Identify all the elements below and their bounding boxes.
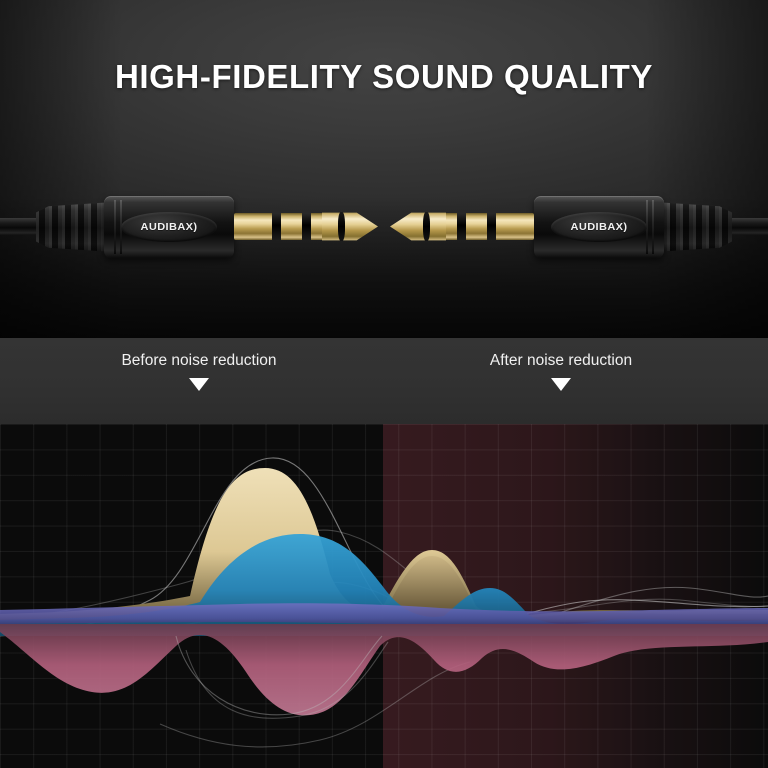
brand-badge-left: AUDIBAX) [121,212,217,242]
plug-cone [322,210,378,243]
barrel-seam [652,200,654,254]
plug-tip-notch [423,212,430,241]
connector-barrel-right: AUDIBAX) [534,196,664,258]
gold-plug-shaft-right [442,213,534,240]
strain-relief-boot-left [36,201,114,253]
connector-barrel-left: AUDIBAX) [104,196,234,258]
product-marketing-image: HIGH-FIDELITY SOUND QUALITY AUDIBAX) [0,0,768,768]
waveform-canvas [0,424,768,768]
brand-logo-text: AUDIBAX) [571,221,628,232]
plug-tip-notch [338,212,345,241]
brand-logo-text: AUDIBAX) [141,221,198,232]
label-after-noise-reduction: After noise reduction [490,352,632,370]
plug-insulator-ring [487,213,496,240]
hero-section: HIGH-FIDELITY SOUND QUALITY AUDIBAX) [0,0,768,338]
gold-plug-tip-right [390,210,446,243]
page-title: HIGH-FIDELITY SOUND QUALITY [0,58,768,96]
boot-ribs-right [654,201,732,253]
gold-plug-shaft-left [234,213,326,240]
strain-relief-boot-right [654,201,732,253]
barrel-seam [114,200,116,254]
waveform-svg [0,424,768,768]
down-triangle-icon-before [189,378,209,391]
gold-plug-tip-left [322,210,378,243]
product-cable-assembly: AUDIBAX) AUDIBAX) [0,168,768,278]
plug-insulator-ring [302,213,311,240]
boot-ribs-left [36,201,114,253]
waveform-chart [0,424,768,768]
plug-cone [390,210,446,243]
label-before-noise-reduction: Before noise reduction [121,352,276,370]
brand-badge-right: AUDIBAX) [551,212,647,242]
comparison-label-strip: Before noise reduction After noise reduc… [0,338,768,424]
plug-insulator-ring [457,213,466,240]
down-triangle-icon-after [551,378,571,391]
plug-insulator-ring [272,213,281,240]
series-pink-mirror [0,624,768,715]
